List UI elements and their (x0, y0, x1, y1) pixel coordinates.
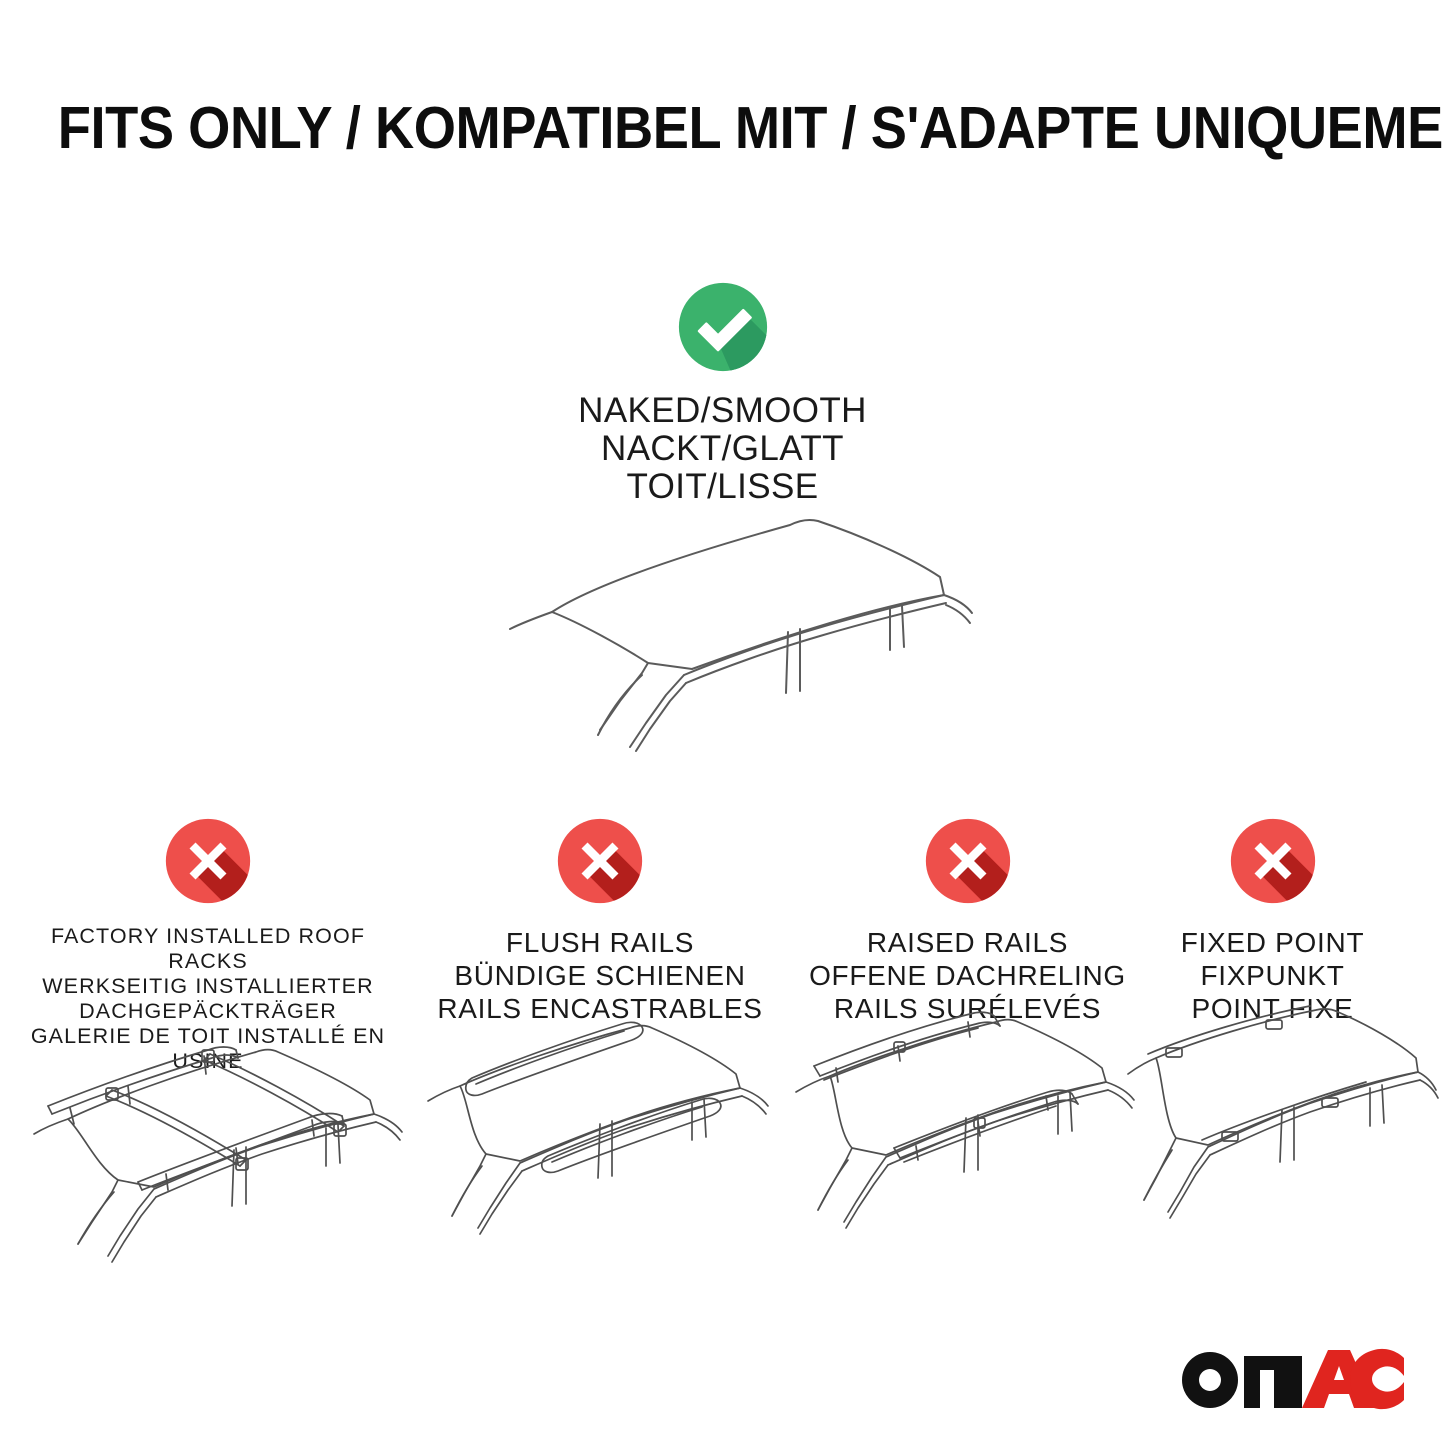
caption-line: OFFENE DACHRELING (790, 959, 1145, 992)
incompatible-item-fixed-point: FIXED POINT FIXPUNKT POINT FIXE (1150, 818, 1395, 1258)
omac-logo (1178, 1344, 1406, 1410)
incompatible-item-factory-installed-roof-racks: FACTORY INSTALLED ROOF RACKS WERKSEITIG … (8, 818, 408, 1258)
x-badge-wrapper (1150, 818, 1395, 918)
x-badge-wrapper (420, 818, 780, 918)
caption-line: FLUSH RAILS (420, 926, 780, 959)
incompatible-caption: RAISED RAILS OFFENE DACHRELING RAILS SUR… (790, 926, 1145, 1025)
logo-letter-o (1182, 1352, 1238, 1408)
factory-roof-rack-illustration (8, 1016, 408, 1246)
caption-line: WERKSEITIG INSTALLIERTER (8, 974, 408, 999)
incompatible-caption: FIXED POINT FIXPUNKT POINT FIXE (1150, 926, 1395, 1025)
caption-line: FIXPUNKT (1150, 959, 1395, 992)
compatible-caption: NAKED/SMOOTH NACKT/GLATT TOIT/LISSE (0, 392, 1445, 506)
x-circle-icon (925, 818, 1011, 904)
caption-line: NAKED/SMOOTH (0, 392, 1445, 430)
x-badge-wrapper (790, 818, 1145, 918)
check-circle-icon (678, 282, 768, 372)
omac-logo-mark (1178, 1344, 1406, 1410)
incompatible-grid: FACTORY INSTALLED ROOF RACKS WERKSEITIG … (0, 818, 1445, 1258)
x-badge-wrapper (8, 818, 408, 918)
incompatible-item-raised-rails: RAISED RAILS OFFENE DACHRELING RAILS SUR… (790, 818, 1145, 1258)
fixed-point-illustration (1150, 1014, 1395, 1244)
caption-line: BÜNDIGE SCHIENEN (420, 959, 780, 992)
x-circle-icon (165, 818, 251, 904)
check-badge-wrapper (0, 282, 1445, 378)
page-title: FITS ONLY / KOMPATIBEL MIT / S'ADAPTE UN… (58, 96, 1387, 160)
caption-line: FACTORY INSTALLED ROOF RACKS (8, 924, 408, 974)
caption-line: RAISED RAILS (790, 926, 1145, 959)
caption-line: NACKT/GLATT (0, 430, 1445, 468)
flush-rails-illustration (420, 1014, 780, 1244)
incompatible-item-flush-rails: FLUSH RAILS BÜNDIGE SCHIENEN RAILS ENCAS… (420, 818, 780, 1258)
compatible-block: NAKED/SMOOTH NACKT/GLATT TOIT/LISSE (0, 282, 1445, 506)
caption-line: FIXED POINT (1150, 926, 1395, 959)
x-circle-icon (557, 818, 643, 904)
incompatible-caption: FLUSH RAILS BÜNDIGE SCHIENEN RAILS ENCAS… (420, 926, 780, 1025)
naked-smooth-roof-illustration (470, 495, 990, 755)
x-circle-icon (1230, 818, 1316, 904)
raised-rails-illustration (790, 1014, 1145, 1244)
